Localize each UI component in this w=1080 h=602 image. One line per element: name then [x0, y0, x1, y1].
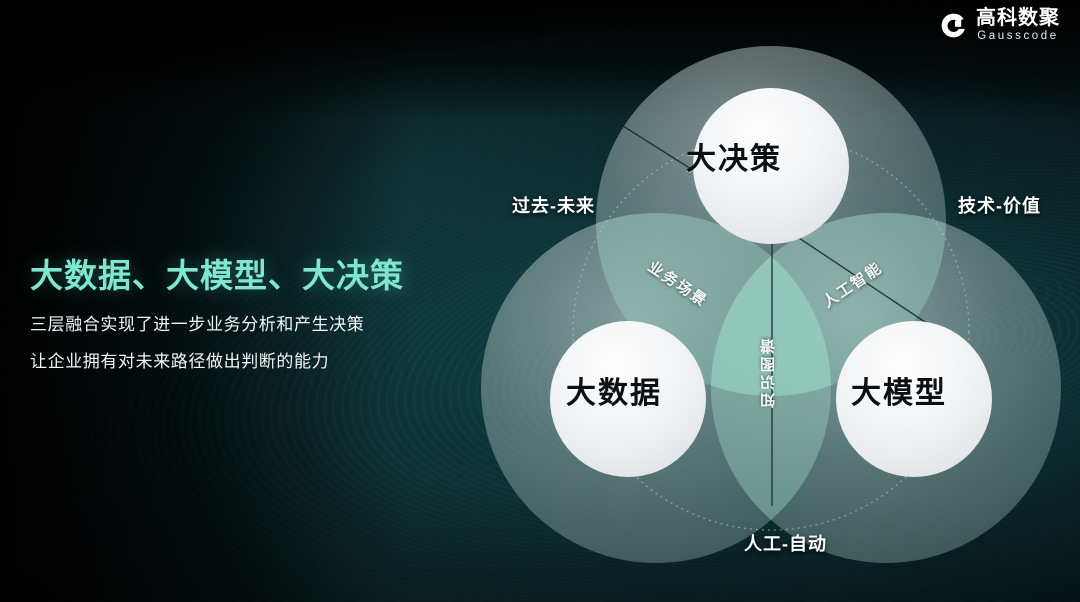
slide-root: 高科数聚 Gausscode 大数据、大模型、大决策 三层融合实现了进一步业务分… [0, 0, 1080, 602]
brand-logo: 高科数聚 Gausscode [940, 8, 1060, 43]
gausscode-g-icon [940, 12, 967, 39]
brand-text: 高科数聚 Gausscode [976, 8, 1060, 43]
page-title: 大数据、大模型、大决策 [30, 255, 470, 296]
axis-label-tech-value: 技术-价值 [958, 192, 1041, 218]
venn-diagram: 大决策 大数据 大模型 业务场景 人工智能 知识图谱 [476, 6, 1066, 566]
axis-label-past-future: 过去-未来 [512, 192, 595, 218]
copy-line-2: 让企业拥有对未来路径做出判断的能力 [30, 349, 470, 375]
copy-line-1: 三层融合实现了进一步业务分析和产生决策 [30, 312, 470, 338]
axis-label-manual-auto: 人工-自动 [744, 530, 827, 556]
venn-circle-label-decision: 大决策 [686, 134, 782, 178]
venn-overlap-label-kg: 知识图谱 [758, 336, 779, 408]
brand-name-cn: 高科数聚 [976, 8, 1060, 28]
venn-circle-label-bigmodel: 大模型 [851, 368, 947, 412]
brand-name-en: Gausscode [977, 31, 1059, 43]
venn-circle-label-bigdata: 大数据 [566, 368, 662, 412]
copy-block: 大数据、大模型、大决策 三层融合实现了进一步业务分析和产生决策 让企业拥有对未来… [30, 255, 470, 385]
